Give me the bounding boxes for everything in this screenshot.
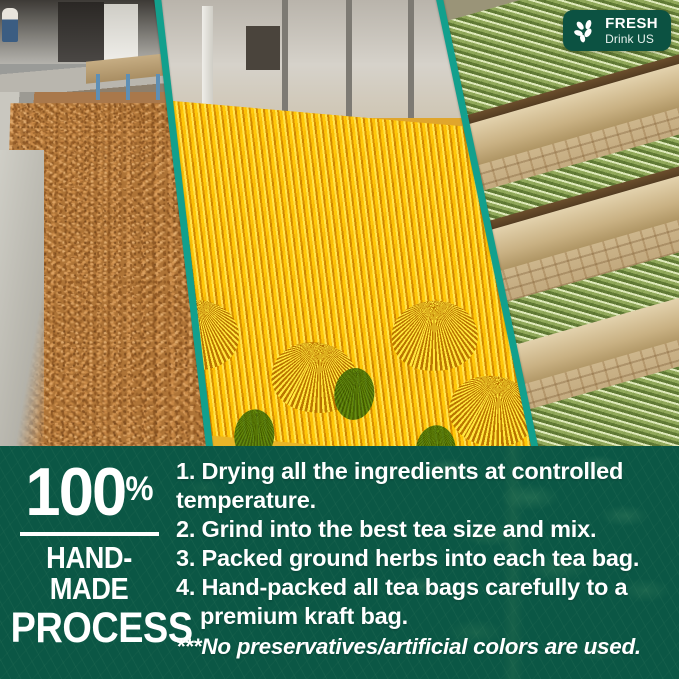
bench-leg [156,74,160,100]
lit-doorway [104,4,138,62]
process-step-line: 2. Grind into the best tea size and mix. [176,515,676,544]
badge-divider-rule [20,532,159,536]
process-step-line: 3. Packed ground herbs into each tea bag… [176,544,676,573]
process-steps-list: 1. Drying all the ingredients at control… [176,457,676,661]
percent-symbol: % [125,472,152,506]
product-infographic: FRESH Drink US 100% HAND-MADE PROCESS 1.… [0,0,679,679]
brand-name-secondary: Drink US [605,33,658,45]
badge-line-hand-made: HAND-MADE [11,542,168,605]
brand-name-primary: FRESH [605,16,658,31]
herb-bundle [391,300,478,371]
dark-doorway [58,2,104,62]
wall-post [282,0,288,118]
green-sprout [232,408,276,446]
vertical-pipe [202,6,213,114]
badge-line-process: PROCESS [11,607,168,651]
percentage-value: 100% [6,460,172,525]
wall-box [246,26,280,70]
process-step-line: 1. Drying all the ingredients at control… [176,457,676,486]
photo-collage: FRESH Drink US [0,0,679,446]
worker-figure [2,8,18,42]
no-preservatives-note: ***No preservatives/artificial colors ar… [176,632,676,661]
brand-logo[interactable]: FRESH Drink US [563,10,671,51]
process-step-line: 4. Hand-packed all tea bags carefully to… [176,573,676,602]
process-step-line: temperature. [176,486,676,515]
leaf-cluster-icon [572,18,598,44]
wall-post [346,0,352,118]
bench-leg [96,74,100,100]
percentage-number: 100 [25,460,125,525]
bench-leg [126,74,130,100]
green-sprout [413,424,457,446]
brand-logo-text: FRESH Drink US [605,16,658,45]
process-step-line: premium kraft bag. [176,602,676,631]
floor-edge [0,150,44,446]
wall-post [408,0,414,118]
hand-made-badge: 100% HAND-MADE PROCESS [0,460,178,651]
process-panel: 100% HAND-MADE PROCESS 1. Drying all the… [0,446,679,679]
